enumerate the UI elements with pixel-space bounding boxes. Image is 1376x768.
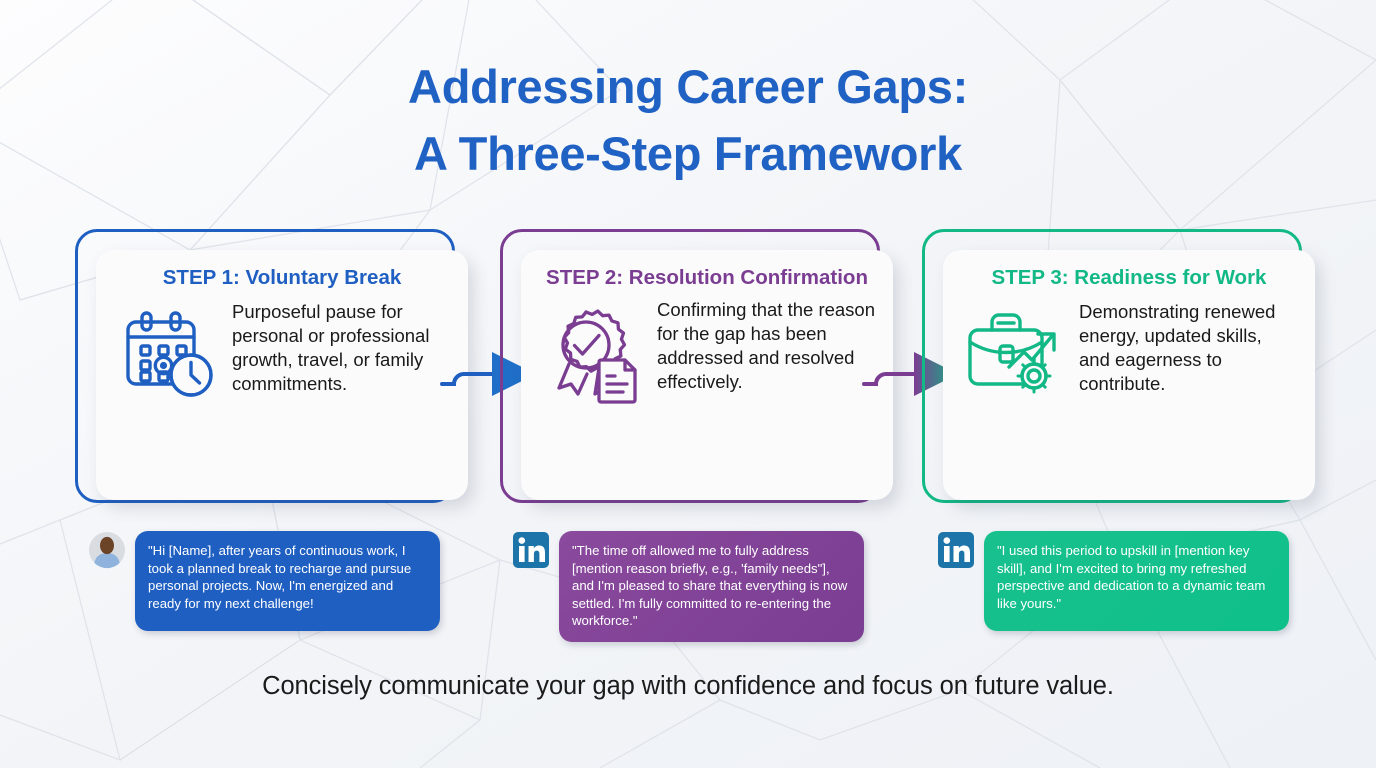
step-3-card-frame: STEP 3: Readiness for Work bbox=[922, 229, 1302, 503]
step-1-title: STEP 1: Voluntary Break bbox=[114, 264, 450, 292]
title-line-1: Addressing Career Gaps: bbox=[0, 54, 1376, 121]
linkedin-icon[interactable] bbox=[512, 531, 550, 569]
step-1-card[interactable]: STEP 1: Voluntary Break bbox=[96, 250, 468, 500]
step-3-title: STEP 3: Readiness for Work bbox=[961, 264, 1297, 292]
step-3-card[interactable]: STEP 3: Readiness for Work bbox=[943, 250, 1315, 500]
quote-row-step-2: "The time off allowed me to fully addres… bbox=[512, 531, 864, 642]
avatar-icon bbox=[88, 531, 126, 569]
step-1-card-frame: STEP 1: Voluntary Break bbox=[75, 229, 455, 503]
step-1-description: Purposeful pause for personal or profess… bbox=[232, 298, 450, 397]
quote-row-step-1: "Hi [Name], after years of continuous wo… bbox=[88, 531, 440, 631]
calendar-clock-icon bbox=[114, 298, 222, 404]
award-badge-document-icon bbox=[539, 298, 647, 404]
step-2-card[interactable]: STEP 2: Resolution Confirmation bbox=[521, 250, 893, 500]
quote-bubble-step-2: "The time off allowed me to fully addres… bbox=[559, 531, 864, 642]
page-title: Addressing Career Gaps: A Three-Step Fra… bbox=[0, 54, 1376, 187]
step-2-card-frame: STEP 2: Resolution Confirmation bbox=[500, 229, 880, 503]
step-3-description: Demonstrating renewed energy, updated sk… bbox=[1079, 298, 1297, 397]
title-line-2: A Three-Step Framework bbox=[0, 121, 1376, 188]
quote-bubble-step-1: "Hi [Name], after years of continuous wo… bbox=[135, 531, 440, 631]
quote-row-step-3: "I used this period to upskill in [menti… bbox=[937, 531, 1289, 631]
briefcase-growth-gear-icon bbox=[961, 298, 1069, 404]
quote-bubble-step-3: "I used this period to upskill in [menti… bbox=[984, 531, 1289, 631]
step-2-description: Confirming that the reason for the gap h… bbox=[657, 298, 875, 395]
linkedin-icon[interactable] bbox=[937, 531, 975, 569]
step-2-title: STEP 2: Resolution Confirmation bbox=[539, 264, 875, 292]
footer-caption: Concisely communicate your gap with conf… bbox=[0, 672, 1376, 701]
